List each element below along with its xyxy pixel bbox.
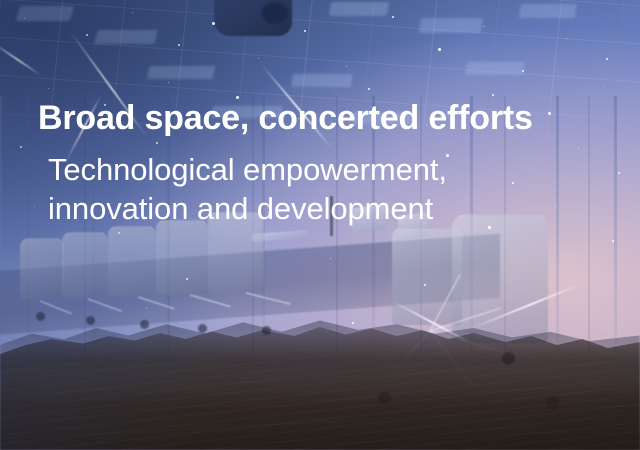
chair-leg <box>430 307 501 332</box>
chair-caster <box>198 324 207 333</box>
banner-subheadline: Technological empowerment, innovation an… <box>48 150 588 228</box>
ceiling-light-panel <box>16 6 74 21</box>
ceiling-light-panel <box>94 30 157 44</box>
ceiling-light-panel <box>291 74 353 87</box>
office-chair-foreground <box>452 214 548 343</box>
office-chair <box>108 226 156 295</box>
chair-leg <box>88 298 123 312</box>
ceiling-light-panel <box>465 62 524 75</box>
chair-leg <box>429 330 474 386</box>
ceiling-light-panel <box>419 18 483 33</box>
chair-caster <box>36 312 45 321</box>
chair-caster <box>378 392 391 405</box>
distant-mountain-silhouette <box>0 296 640 390</box>
ceiling-projector-icon <box>214 0 292 36</box>
chair-leg <box>190 294 231 307</box>
ceiling-light-panel <box>519 4 576 18</box>
banner-copy: Broad space, concerted efforts Technolog… <box>38 100 606 228</box>
laptop-icon <box>252 230 308 242</box>
ploughed-field-texture <box>0 330 640 450</box>
hero-banner: Broad space, concerted efforts Technolog… <box>0 0 640 450</box>
mountain-silhouette <box>0 300 640 450</box>
chair-caster <box>262 326 271 335</box>
chair-leg <box>429 274 461 331</box>
chair-caster <box>140 320 149 329</box>
chair-caster <box>546 396 560 410</box>
office-chair <box>156 220 208 295</box>
chair-leg <box>390 330 430 374</box>
chair-leg <box>138 296 175 310</box>
chair-leg <box>246 292 291 305</box>
chair-leg <box>430 330 513 356</box>
office-chair <box>392 228 462 325</box>
window-mullion <box>26 96 29 354</box>
ceiling-light-panel <box>329 2 389 16</box>
light-streak <box>392 300 469 342</box>
window-mullion <box>614 96 617 354</box>
conference-table <box>0 233 500 336</box>
chair-caster <box>502 352 515 365</box>
chair-caster <box>86 316 95 325</box>
light-streak <box>470 283 582 329</box>
banner-headline: Broad space, concerted efforts <box>38 100 606 136</box>
chair-leg <box>40 300 72 315</box>
ceiling-light-panel <box>147 66 216 79</box>
office-chair <box>20 238 64 299</box>
office-chair <box>62 232 108 297</box>
light-streak <box>0 40 42 76</box>
